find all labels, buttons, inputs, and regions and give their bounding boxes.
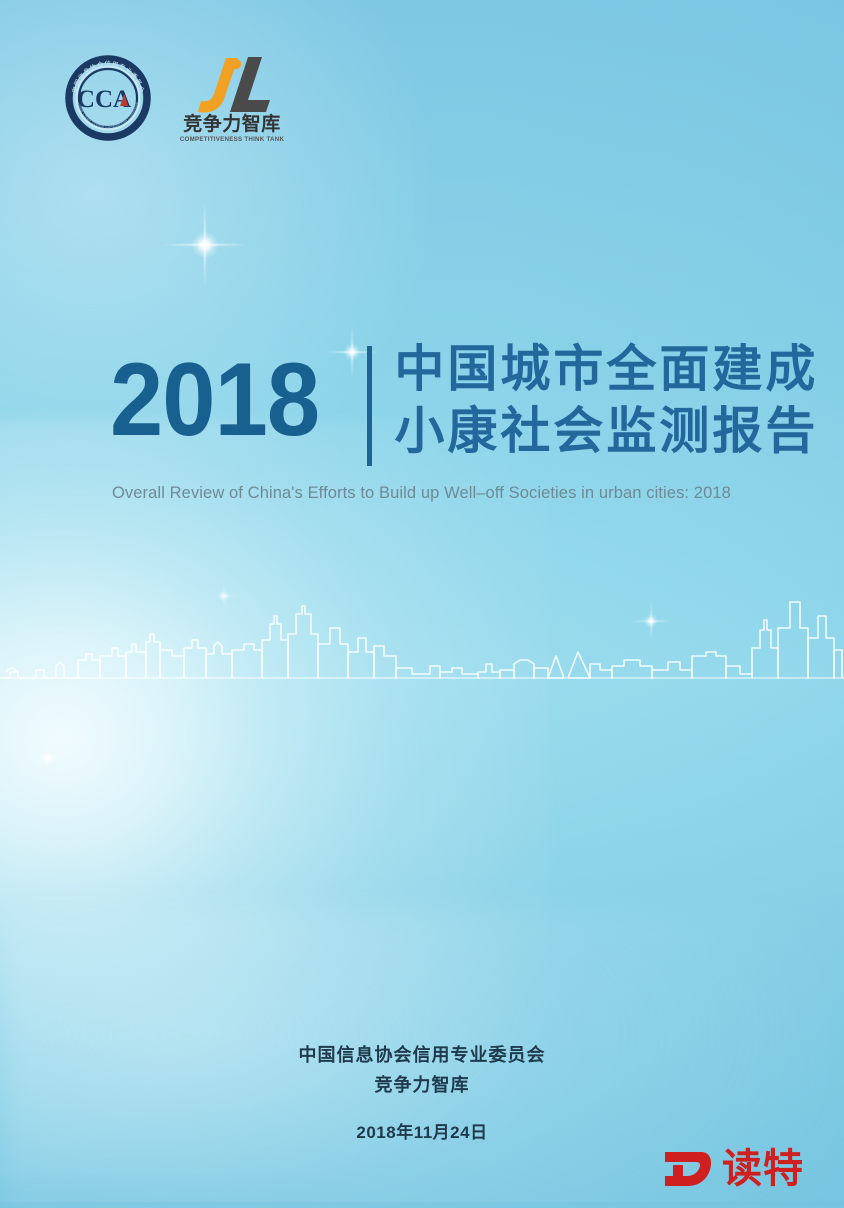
publisher-line-2: 竞争力智库 [0,1070,844,1100]
cca-seal-logo: 中国信息协会信用专业委员会 China Credit System Constr… [64,54,152,142]
think-tank-name-cn: 竞争力智库 [183,112,281,135]
publish-date: 2018年11月24日 [0,1118,844,1143]
footer-block: 中国信息协会信用专业委员会 竞争力智库 2018年11月24日 [0,1040,844,1143]
city-skyline-illustration [0,556,844,706]
think-tank-name-en: COMPETITIVENESS THINK TANK [180,136,285,143]
cover-headline: 2018 中国城市全面建成 小康社会监测报告 [110,338,818,466]
dute-watermark: 读特 [661,1146,804,1192]
publisher-line-1: 中国信息协会信用专业委员会 [0,1040,844,1070]
dute-d-mark-icon [661,1146,713,1192]
page-bottom-edge [0,1202,844,1208]
page-title-line-1: 中国城市全面建成 [394,338,818,400]
report-year: 2018 [110,338,319,456]
page-title: 中国城市全面建成 小康社会监测报告 [394,338,818,462]
page-subtitle-en: Overall Review of China's Efforts to Bui… [112,484,772,503]
title-divider [367,346,372,466]
report-cover-page: 中国信息协会信用专业委员会 China Credit System Constr… [0,0,844,1208]
dute-wordmark: 读特 [722,1147,804,1191]
logo-row: 中国信息协会信用专业委员会 China Credit System Constr… [64,52,288,144]
think-tank-logo: 竞争力智库 COMPETITIVENESS THINK TANK [176,52,288,144]
page-title-line-2: 小康社会监测报告 [394,400,818,462]
